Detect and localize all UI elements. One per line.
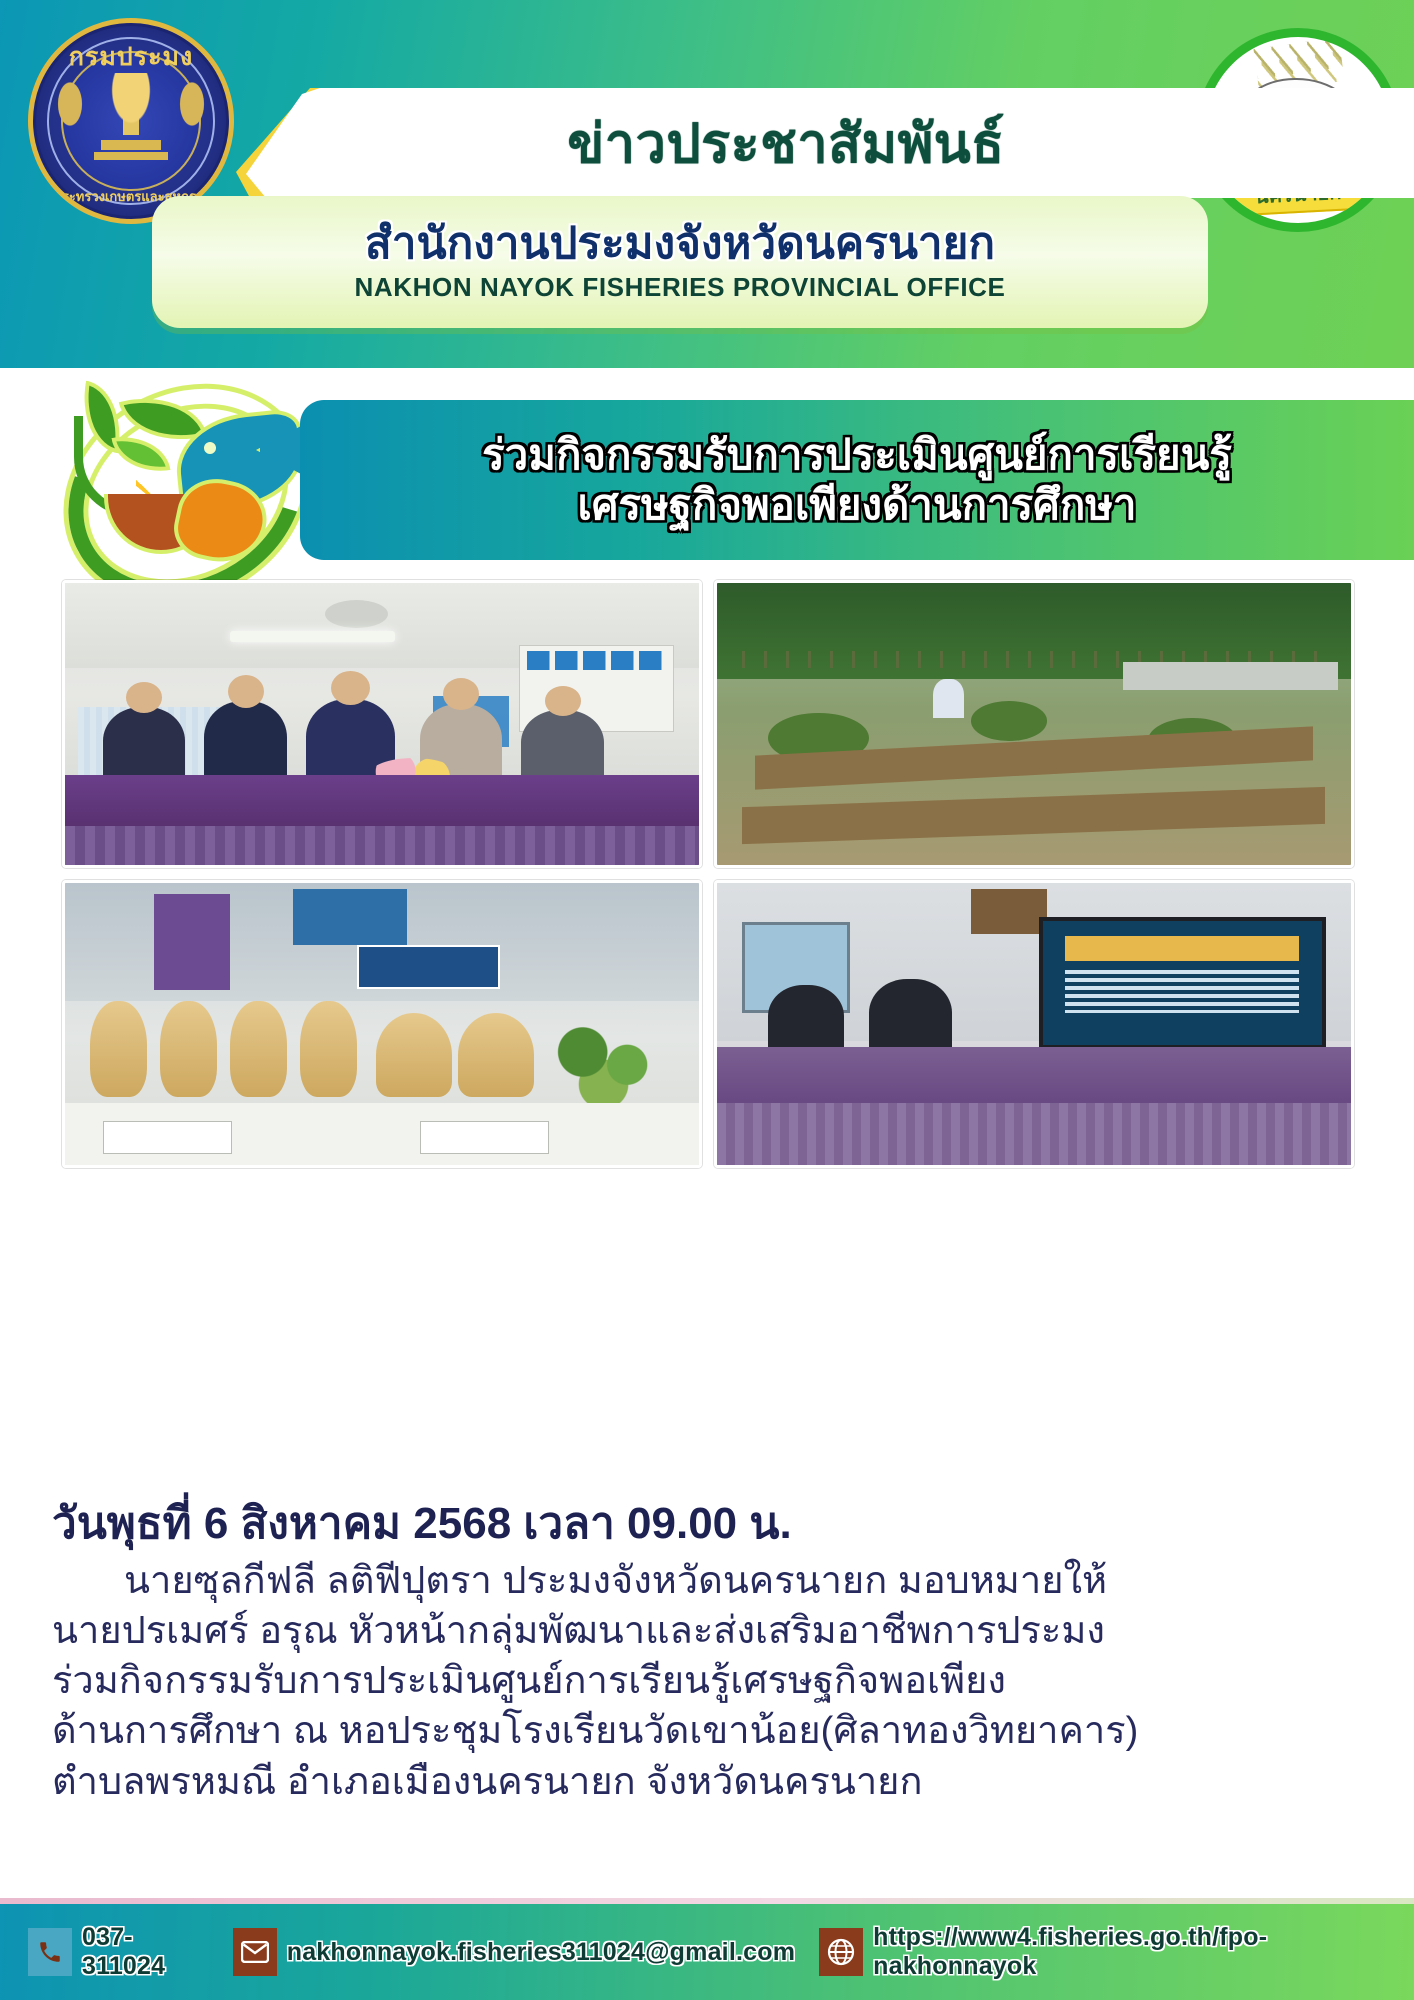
vegetable-display <box>541 1018 680 1103</box>
roll-up-banner <box>154 894 230 990</box>
framed-picture <box>971 889 1047 934</box>
news-paragraph-line: นายปรเมศร์ อรุณ หัวหน้ากลุ่มพัฒนาและส่งเ… <box>52 1606 1372 1656</box>
bamboo-basket <box>230 1001 287 1097</box>
news-paragraph-line: ตำบลพรหมณี อำเภอเมืองนครนายก จังหวัดนครน… <box>52 1757 1372 1807</box>
photo-product-display <box>62 880 702 1168</box>
product-label <box>420 1121 549 1154</box>
bamboo-basket <box>160 1001 217 1097</box>
phone-icon <box>28 1928 72 1976</box>
news-body: นายซุลกีฟลี ลติฟีปุตรา ประมงจังหวัดนครนา… <box>52 1556 1372 1807</box>
ceiling-fan-icon <box>325 600 388 628</box>
wall-screen <box>293 889 407 945</box>
logo-fish-eye <box>202 440 218 456</box>
photo-school-garden <box>714 580 1354 868</box>
bamboo-basket <box>300 1001 357 1097</box>
photo-presentation-room <box>714 880 1354 1168</box>
display-sign <box>357 945 500 988</box>
ceiling-lamp <box>230 631 395 642</box>
office-name-thai: สำนักงานประมงจังหวัดนครนายก <box>365 221 995 267</box>
email-icon <box>233 1928 277 1976</box>
woven-fish-trap <box>376 1013 452 1098</box>
woven-fish-trap <box>458 1013 534 1098</box>
news-paragraph-line: นายซุลกีฟลี ลติฟีปุตรา ประมงจังหวัดนครนา… <box>52 1556 1372 1606</box>
seal-left-ornament <box>55 77 85 131</box>
bamboo-basket <box>90 1001 147 1097</box>
office-name-english: NAKHON NAYOK FISHERIES PROVINCIAL OFFICE <box>355 272 1006 303</box>
table-skirt <box>717 1103 1351 1165</box>
table-skirt <box>65 826 699 865</box>
activity-title-line-2: เศรษฐกิจพอเพียงด้านการศึกษา <box>577 480 1136 530</box>
activity-title-line-1: ร่วมกิจกรรมรับการประเมินศูนย์การเรียนรู้ <box>482 430 1232 480</box>
phone-number[interactable]: 037-311024 <box>82 1923 209 1981</box>
product-label <box>103 1121 232 1154</box>
fisheries-agriculture-logo-icon <box>58 378 310 574</box>
news-paragraph-line: ร่วมกิจกรรมรับการประเมินศูนย์การเรียนรู้… <box>52 1656 1372 1706</box>
person-figure <box>521 710 603 781</box>
office-name-panel: สำนักงานประมงจังหวัดนครนายก NAKHON NAYOK… <box>152 196 1208 328</box>
person-figure <box>869 979 951 1052</box>
globe-icon <box>819 1928 863 1976</box>
event-date-time: วันพุธที่ 6 สิงหาคม 2568 เวลา 09.00 น. <box>52 1488 1372 1558</box>
person-figure <box>103 707 185 780</box>
person-figure <box>204 701 286 780</box>
email-address[interactable]: nakhonnayok.fisheries311024@gmail.com <box>287 1938 795 1967</box>
photo-meeting-head-table <box>62 580 702 868</box>
seal-top-label: กรมประมง <box>33 37 229 77</box>
building-roof <box>1123 662 1339 690</box>
presentation-screen <box>1039 917 1326 1049</box>
news-paragraph-line: ด้านการศึกษา ณ หอประชุมโรงเรียนวัดเขาน้อ… <box>52 1706 1372 1756</box>
student-figure <box>933 679 965 718</box>
website-url[interactable]: https://www4.fisheries.go.th/fpo-nakhonn… <box>873 1923 1400 1981</box>
seal-right-ornament <box>177 77 207 131</box>
seal-center-motif-icon <box>85 73 177 169</box>
activity-title-banner: ร่วมกิจกรรมรับการประเมินศูนย์การเรียนรู้… <box>300 400 1414 560</box>
photo-grid <box>62 580 1354 1168</box>
person-figure <box>768 985 844 1053</box>
garden-bed <box>742 787 1325 844</box>
contact-footer: 037-311024 nakhonnayok.fisheries311024@g… <box>0 1904 1414 2000</box>
page-title: ข่าวประชาสัมพันธ์ <box>246 88 1326 198</box>
garden-bush <box>971 701 1047 740</box>
department-of-fisheries-seal-icon: กรมประมง กระทรวงเกษตรและสหกรณ์ <box>28 18 234 224</box>
